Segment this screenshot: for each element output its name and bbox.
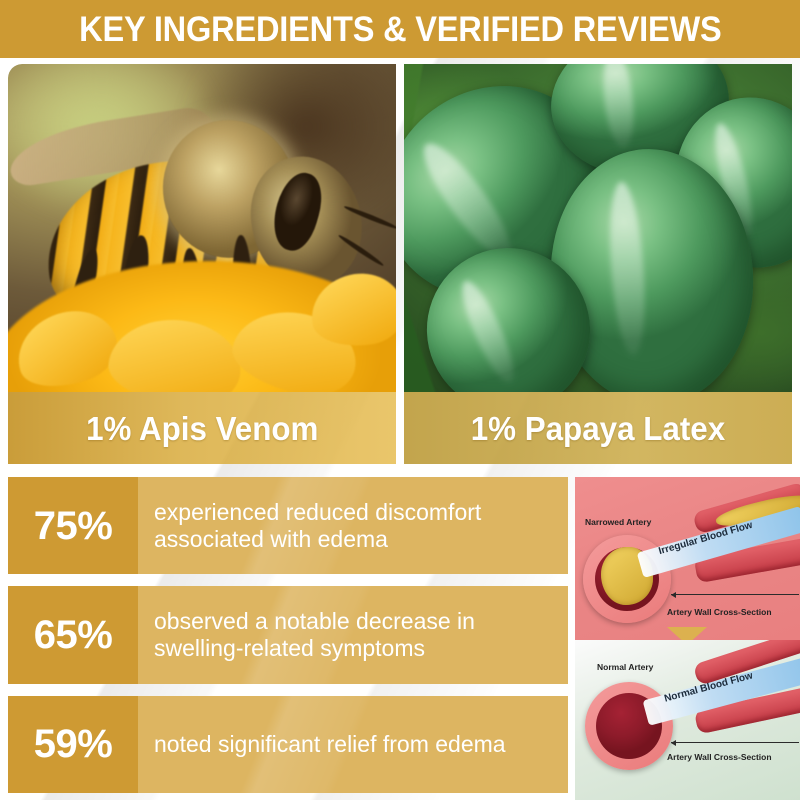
- stat-row[interactable]: 65% observed a notable decrease in swell…: [8, 586, 568, 683]
- papaya-photo: [404, 64, 792, 392]
- artery-wall-cross-section-label-top: Artery Wall Cross-Section: [667, 607, 772, 617]
- stat-percent-75: 75%: [8, 477, 138, 574]
- stat-row[interactable]: 59% noted significant relief from edema: [8, 696, 568, 793]
- page-title: KEY INGREDIENTS & VERIFIED REVIEWS: [79, 12, 721, 47]
- artery-wall-cross-section-label-bottom: Artery Wall Cross-Section: [667, 752, 772, 762]
- infographic-page: KEY INGREDIENTS & VERIFIED REVIEWS: [0, 0, 800, 800]
- statistics-section: 75% experienced reduced discomfort assoc…: [8, 477, 568, 793]
- down-arrow-icon: [667, 627, 707, 640]
- stat-text-bar: noted significant relief from edema: [138, 696, 568, 793]
- stat-description-65: observed a notable decrease in swelling-…: [138, 608, 568, 662]
- ingredient-label-bar-apis-venom: 1% Apis Venom: [8, 392, 396, 464]
- header-bar: KEY INGREDIENTS & VERIFIED REVIEWS: [0, 0, 800, 58]
- stat-percent-65: 65%: [8, 586, 138, 683]
- cross-section-leader-line: [671, 742, 799, 743]
- stat-description-75: experienced reduced discomfort associate…: [138, 499, 568, 553]
- cross-section-leader-line: [671, 594, 799, 595]
- ingredient-label-bar-papaya-latex: 1% Papaya Latex: [404, 392, 792, 464]
- ingredient-label-apis-venom: 1% Apis Venom: [86, 412, 318, 445]
- diagram-narrowed-artery: Narrowed Artery Irregular Blood Flow Art…: [575, 477, 800, 640]
- stat-description-59: noted significant relief from edema: [138, 731, 520, 758]
- stat-text-bar: experienced reduced discomfort associate…: [138, 477, 568, 574]
- normal-artery-label: Normal Artery: [597, 662, 653, 672]
- ingredient-card-papaya-latex[interactable]: 1% Papaya Latex: [404, 64, 792, 464]
- ingredient-card-apis-venom[interactable]: 1% Apis Venom: [8, 64, 396, 464]
- bee-photo: [8, 64, 396, 392]
- stat-row[interactable]: 75% experienced reduced discomfort assoc…: [8, 477, 568, 574]
- stat-percent-59: 59%: [8, 696, 138, 793]
- ingredient-label-papaya-latex: 1% Papaya Latex: [471, 412, 725, 445]
- diagram-normal-artery: Normal Artery Normal Blood Flow Artery W…: [575, 640, 800, 800]
- narrowed-artery-label: Narrowed Artery: [585, 517, 651, 527]
- artery-diagram-section: Narrowed Artery Irregular Blood Flow Art…: [575, 477, 800, 800]
- ingredients-section: 1% Apis Venom 1% Papaya Latex: [8, 64, 792, 464]
- stat-text-bar: observed a notable decrease in swelling-…: [138, 586, 568, 683]
